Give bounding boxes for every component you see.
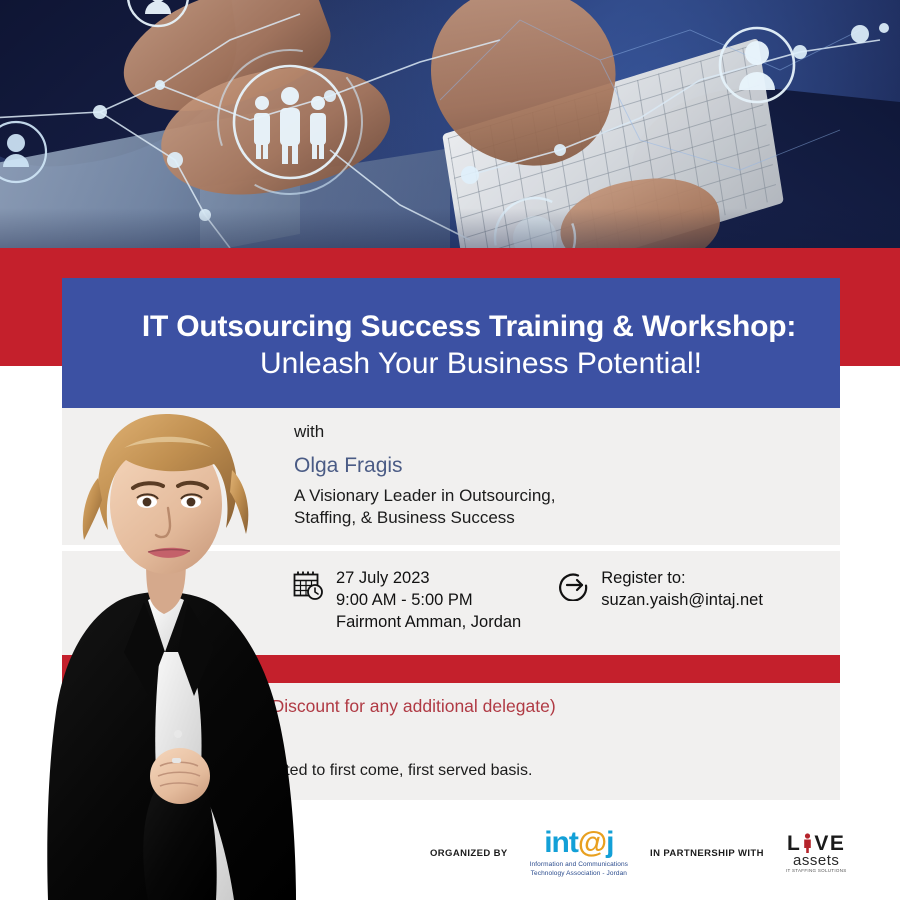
speaker-photo	[28, 352, 316, 900]
date-venue-block: 27 July 2023 9:00 AM - 5:00 PM Fairmont …	[292, 567, 521, 633]
event-poster: IT Outsourcing Success Training & Worksh…	[0, 0, 900, 900]
partnership-label: IN PARTNERSHIP WITH	[650, 848, 764, 859]
date-venue-lines: 27 July 2023 9:00 AM - 5:00 PM Fairmont …	[336, 567, 521, 633]
user-avatar-icon	[720, 28, 794, 102]
intaj-tagline: Information and Communications Technolog…	[530, 861, 628, 879]
register-email[interactable]: suzan.yaish@intaj.net	[601, 589, 763, 611]
event-info-row: 27 July 2023 9:00 AM - 5:00 PM Fairmont …	[292, 567, 832, 633]
live-assets-word: assets	[786, 853, 847, 868]
hero-image	[0, 0, 900, 248]
intaj-suffix: j	[606, 826, 613, 859]
organized-by-label: ORGANIZED BY	[430, 848, 508, 859]
live-assets-logo: L VE assets IT STAFFING SOLUTIONS	[786, 833, 847, 874]
intaj-tagline-line-2: Technology Association - Jordan	[531, 870, 627, 877]
live-wordmark: L VE	[786, 833, 847, 854]
speaker-role-line-2: Staffing, & Business Success	[294, 508, 515, 527]
intaj-at-symbol: @	[578, 828, 606, 858]
with-label: with	[294, 422, 814, 442]
user-avatar-icon	[0, 122, 46, 182]
intaj-wordmark: int@j	[530, 828, 628, 858]
live-assets-tagline: IT STAFFING SOLUTIONS	[786, 869, 847, 874]
intaj-prefix: int	[544, 826, 578, 859]
event-venue: Fairmont Amman, Jordan	[336, 611, 521, 633]
speaker-name: Olga Fragis	[294, 454, 814, 478]
intaj-tagline-line-1: Information and Communications	[530, 861, 628, 868]
register-lines: Register to: suzan.yaish@intaj.net	[601, 567, 763, 611]
arrow-right-circle-icon	[557, 569, 589, 601]
event-date: 27 July 2023	[336, 567, 521, 589]
person-figure-icon	[802, 833, 813, 853]
people-group-icon	[218, 50, 362, 194]
footer-logos: ORGANIZED BY int@j Information and Commu…	[430, 828, 847, 879]
intaj-logo: int@j Information and Communications Tec…	[530, 828, 628, 879]
page-title-line-1: IT Outsourcing Success Training & Worksh…	[106, 309, 796, 344]
speaker-text-block: with Olga Fragis A Visionary Leader in O…	[294, 422, 814, 529]
hero-bottom-fade	[0, 208, 900, 248]
speaker-role: A Visionary Leader in Outsourcing, Staff…	[294, 485, 814, 529]
speaker-role-line-1: A Visionary Leader in Outsourcing,	[294, 486, 555, 505]
event-time: 9:00 AM - 5:00 PM	[336, 589, 521, 611]
register-block[interactable]: Register to: suzan.yaish@intaj.net	[557, 567, 763, 633]
network-node-icon	[93, 23, 889, 221]
user-avatar-icon	[128, 0, 188, 26]
register-label: Register to:	[601, 567, 763, 589]
